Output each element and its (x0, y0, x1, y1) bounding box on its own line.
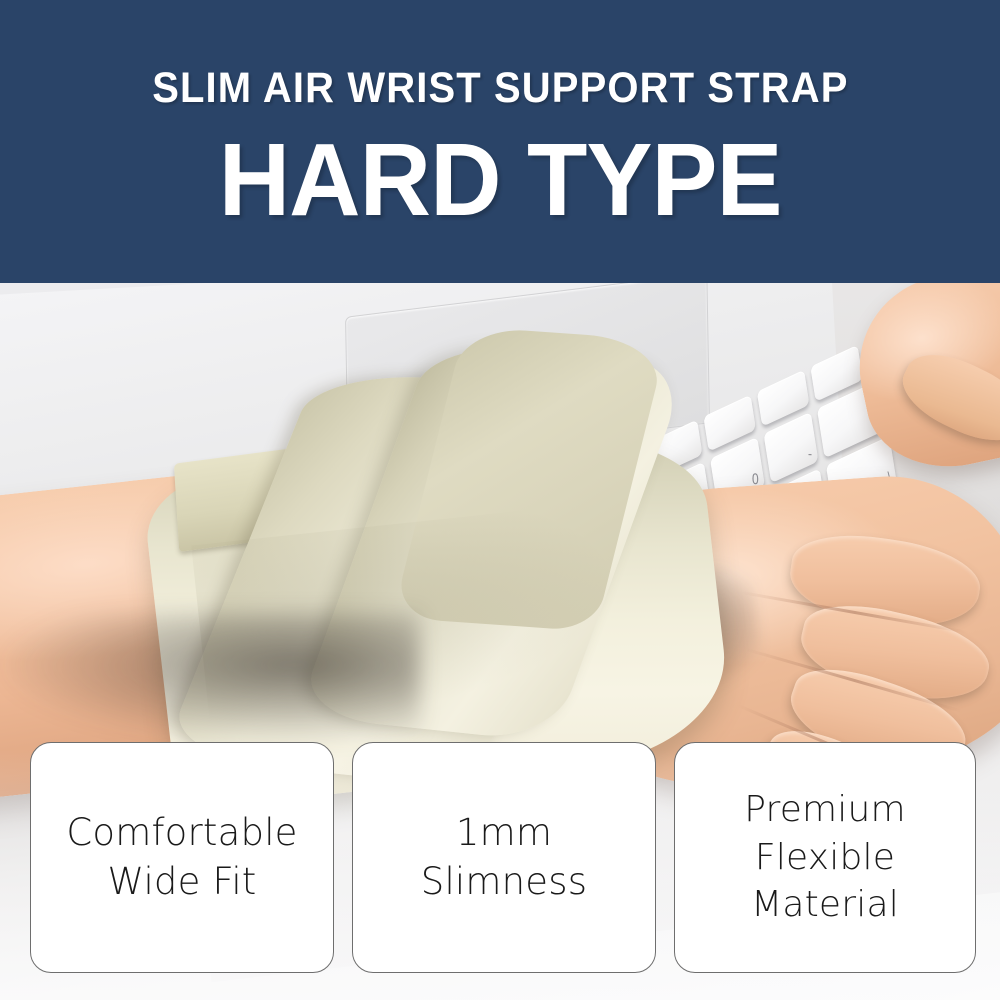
feature-card-text: Comfortable Wide Fit (60, 809, 303, 905)
header-title: HARD TYPE (219, 128, 782, 231)
feature-card-1mm-slimness: 1mm Slimness (352, 742, 656, 973)
feature-card-comfortable-wide-fit: Comfortable Wide Fit (30, 742, 334, 973)
header-band: SLIM AIR WRIST SUPPORT STRAP HARD TYPE (0, 0, 1000, 283)
feature-card-row: Comfortable Wide Fit 1mm Slimness Premiu… (0, 742, 1000, 974)
feature-card-text: Premium Flexible Material (738, 786, 912, 929)
photo-vignette (0, 613, 420, 743)
header-subtitle: SLIM AIR WRIST SUPPORT STRAP (152, 67, 848, 110)
feature-card-text: 1mm Slimness (415, 809, 593, 905)
feature-card-premium-flexible-material: Premium Flexible Material (674, 742, 976, 973)
product-banner: SLIM AIR WRIST SUPPORT STRAP HARD TYPE 8… (0, 0, 1000, 1000)
